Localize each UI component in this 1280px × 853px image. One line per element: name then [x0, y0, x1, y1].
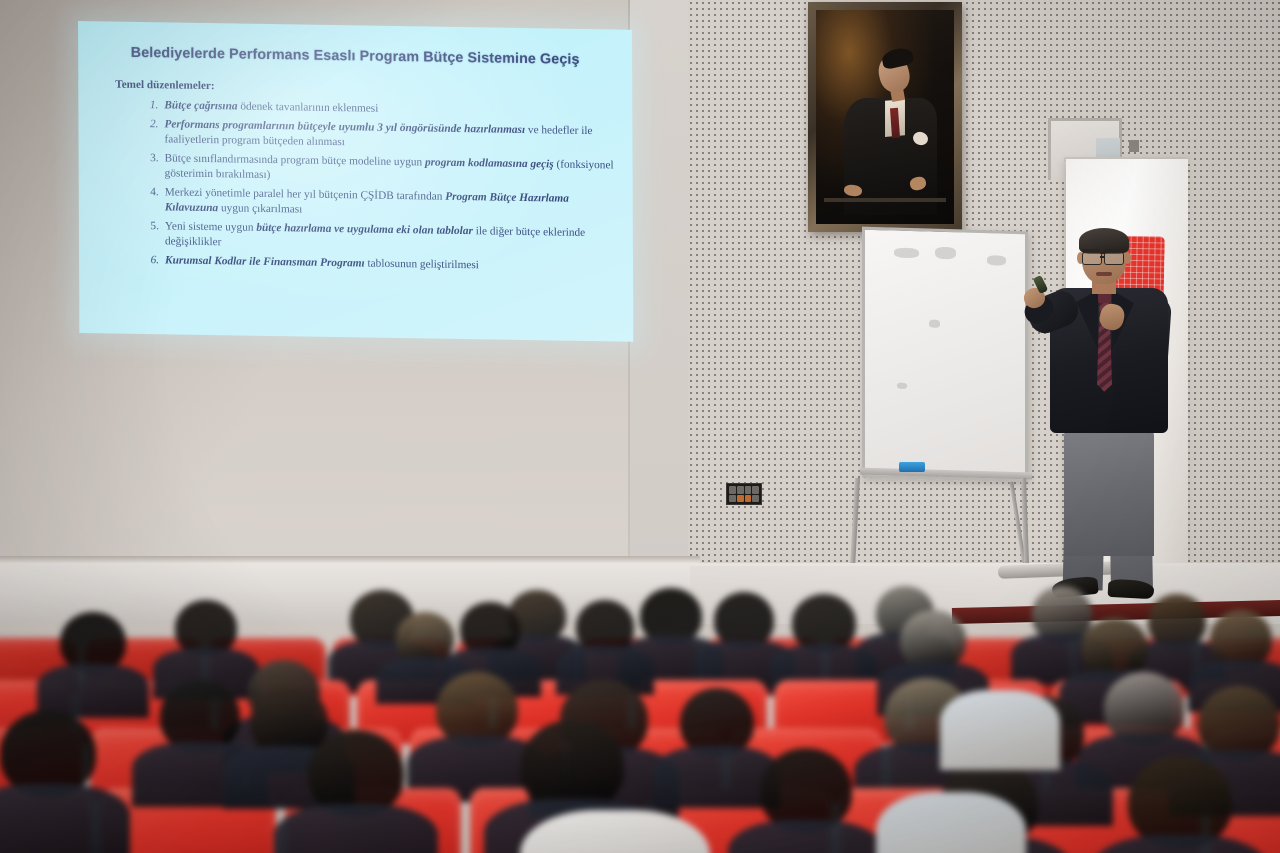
whiteboard-smudge: [897, 383, 907, 389]
connector-socket[interactable]: [737, 495, 744, 503]
portrait-tie: [889, 108, 899, 138]
slide-item-text: Bütçe çağrısına ödenek tavanlarının ekle…: [164, 99, 378, 114]
slide-item-number: 5.: [137, 219, 159, 235]
slide-bullet-list: 1.Bütçe çağrısına ödenek tavanlarının ek…: [122, 98, 619, 280]
whiteboard-smudge: [987, 255, 1006, 265]
connector-socket[interactable]: [745, 486, 752, 494]
glasses-icon: [1104, 252, 1124, 265]
presenter-mouth: [1096, 272, 1112, 276]
audience-member-shoulders: [0, 784, 130, 853]
connector-socket[interactable]: [729, 486, 736, 494]
audience-member-shoulders: [274, 804, 437, 853]
portrait-desk-edge: [824, 198, 945, 202]
slide-item-text: Kurumsal Kodlar ile Finansman Programı t…: [165, 255, 479, 272]
slide-item-text: Yeni sisteme uygun bütçe hazırlama ve uy…: [165, 220, 585, 248]
slide-item-number: 1.: [136, 98, 158, 114]
slide-item-number: 3.: [137, 151, 159, 167]
slide-item-number: 4.: [137, 185, 159, 201]
wall-connector-plate[interactable]: [726, 483, 762, 505]
slide-item-number: 6.: [137, 253, 159, 269]
conference-photo-scene: Belediyelerde Performans Esaslı Program …: [0, 0, 1280, 853]
connector-socket[interactable]: [737, 486, 744, 494]
slide-list-item: 3.Bütçe sınıflandırmasında program bütçe…: [123, 151, 619, 189]
glasses-bridge: [1100, 256, 1105, 258]
slide-item-text: Bütçe sınıflandırmasında program bütçe m…: [165, 152, 614, 181]
portrait-hair: [881, 45, 915, 70]
wall-bracket: [1129, 140, 1139, 152]
projected-slide: Belediyelerde Performans Esaslı Program …: [78, 21, 633, 342]
connector-socket[interactable]: [752, 486, 759, 494]
audience-member-shoulders: [876, 792, 1026, 853]
flipchart-whiteboard[interactable]: [862, 227, 1028, 483]
slide-list-item: 4.Merkezi yönetimle paralel her yıl bütç…: [123, 185, 619, 223]
portrait-canvas: [816, 10, 954, 224]
slide-list-item: 5.Yeni sisteme uygun bütçe hazırlama ve …: [123, 219, 619, 257]
audience-member-head: [1198, 686, 1280, 760]
glasses-icon: [1082, 252, 1102, 265]
connector-socket[interactable]: [729, 495, 736, 503]
audience-member-shoulders: [940, 690, 1060, 770]
presenter: [1016, 228, 1188, 600]
slide-list-item: 2.Performans programlarının bütçeyle uyu…: [122, 116, 618, 154]
slide-item-text: Performans programlarının bütçeyle uyuml…: [164, 118, 592, 148]
whiteboard-smudge: [894, 248, 920, 259]
portrait-frame: [808, 2, 962, 232]
slide-item-number: 2.: [136, 117, 158, 133]
slide-title: Belediyelerde Performans Esaslı Program …: [78, 44, 632, 69]
audience-member-head: [436, 672, 518, 746]
slide-list-item: 6.Kurumsal Kodlar ile Finansman Programı…: [123, 253, 619, 276]
slide-item-text: Merkezi yönetimle paralel her yıl bütçen…: [165, 186, 569, 215]
slide-subtitle: Temel düzenlemeler:: [115, 79, 214, 93]
audience-area: [0, 560, 1280, 853]
connector-socket[interactable]: [745, 495, 752, 503]
connector-socket[interactable]: [752, 495, 759, 503]
whiteboard-smudge: [935, 246, 956, 259]
whiteboard-eraser[interactable]: [899, 462, 925, 472]
presenter-trousers: [1064, 426, 1154, 556]
whiteboard-smudge: [929, 320, 940, 328]
presenter-right-ear: [1124, 252, 1131, 264]
